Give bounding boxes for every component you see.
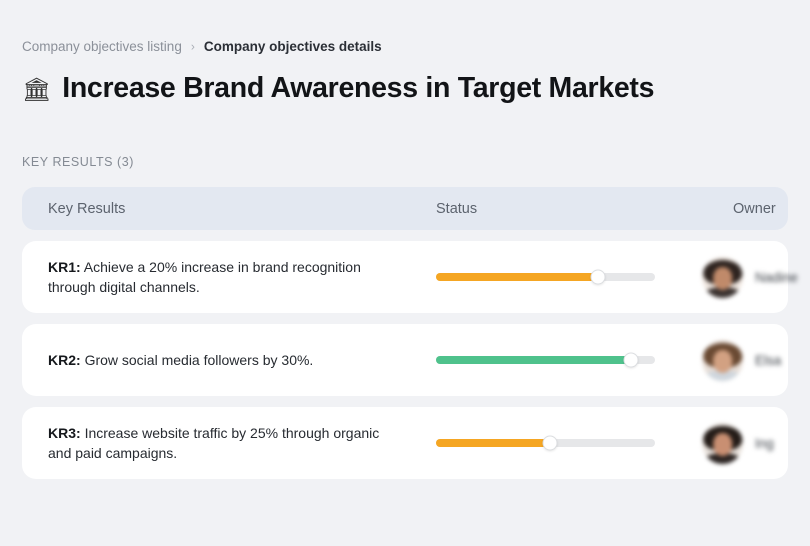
progress-slider-handle[interactable] xyxy=(623,353,638,368)
owner-cell: Elsa xyxy=(694,340,788,381)
key-results-section-label: KEY RESULTS (3) xyxy=(22,155,788,169)
breadcrumb: Company objectives listing › Company obj… xyxy=(22,0,788,56)
key-result-label: KR2: xyxy=(48,352,81,368)
table-row[interactable]: KR3: Increase website traffic by 25% thr… xyxy=(22,407,788,479)
table-row[interactable]: KR2: Grow social media followers by 30%.… xyxy=(22,324,788,396)
progress-slider[interactable] xyxy=(436,273,655,281)
status-cell xyxy=(436,439,694,447)
avatar xyxy=(702,257,743,298)
table-header-row: Key Results Status Owner xyxy=(22,187,788,230)
key-result-label: KR3: xyxy=(48,425,81,441)
progress-slider[interactable] xyxy=(436,439,655,447)
breadcrumb-parent-link[interactable]: Company objectives listing xyxy=(22,38,182,56)
avatar-face xyxy=(713,350,733,373)
avatar-face xyxy=(713,267,733,290)
breadcrumb-current: Company objectives details xyxy=(204,38,382,56)
column-header-key-results: Key Results xyxy=(48,201,436,217)
key-result-description: Grow social media followers by 30%. xyxy=(85,352,314,368)
owner-cell: Nadine xyxy=(694,257,798,298)
objective-details-page: Company objectives listing › Company obj… xyxy=(0,0,810,546)
progress-slider-handle[interactable] xyxy=(591,270,606,285)
owner-name: Nadine xyxy=(755,270,798,285)
column-header-status: Status xyxy=(436,201,694,217)
status-cell xyxy=(436,273,694,281)
progress-slider-fill xyxy=(436,356,631,364)
avatar xyxy=(702,423,743,464)
owner-cell: Ing xyxy=(694,423,788,464)
key-result-label: KR1: xyxy=(48,259,81,275)
table-row[interactable]: KR1: Achieve a 20% increase in brand rec… xyxy=(22,241,788,313)
owner-name: Elsa xyxy=(755,353,781,368)
key-result-text: KR2: Grow social media followers by 30%. xyxy=(48,350,398,370)
owner-name: Ing xyxy=(755,436,774,451)
page-title-row: 🏛 Increase Brand Awareness in Target Mar… xyxy=(22,71,788,105)
status-cell xyxy=(436,356,694,364)
avatar-face xyxy=(713,433,733,456)
column-header-owner: Owner xyxy=(694,201,788,217)
key-results-table: Key Results Status Owner KR1: Achieve a … xyxy=(22,187,788,479)
chevron-right-icon: › xyxy=(191,38,195,56)
page-title: Increase Brand Awareness in Target Marke… xyxy=(62,71,654,105)
avatar xyxy=(702,340,743,381)
table-body: KR1: Achieve a 20% increase in brand rec… xyxy=(22,241,788,479)
progress-slider-handle[interactable] xyxy=(542,436,557,451)
progress-slider-fill xyxy=(436,439,550,447)
progress-slider-fill xyxy=(436,273,598,281)
key-result-text: KR1: Achieve a 20% increase in brand rec… xyxy=(48,257,398,297)
building-icon: 🏛 xyxy=(22,78,51,101)
key-result-description: Achieve a 20% increase in brand recognit… xyxy=(48,259,361,295)
key-result-text: KR3: Increase website traffic by 25% thr… xyxy=(48,423,398,463)
progress-slider[interactable] xyxy=(436,356,655,364)
key-result-description: Increase website traffic by 25% through … xyxy=(48,425,379,461)
